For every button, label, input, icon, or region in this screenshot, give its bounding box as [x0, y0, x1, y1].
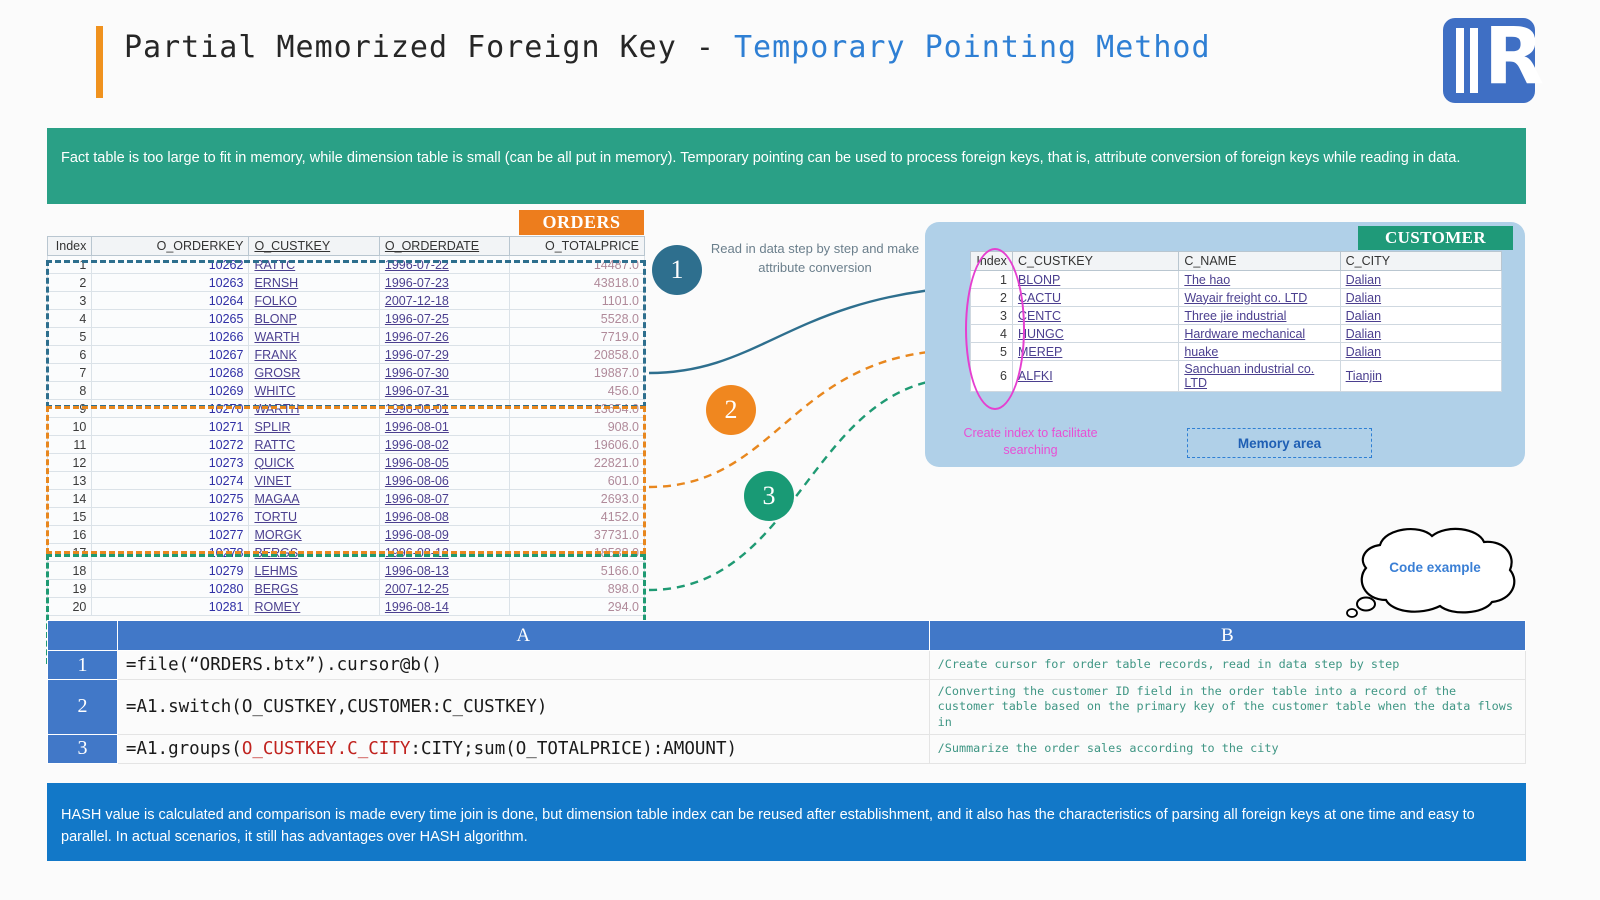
table-row: 4HUNGCHardware mechanicalDalian [971, 325, 1502, 343]
orders-cell: VINET [249, 472, 379, 490]
customer-cell: Dalian [1340, 307, 1501, 325]
code-example-bubble: Code example [1330, 528, 1530, 616]
orders-cell: 19606.0 [509, 436, 644, 454]
customer-cell: Dalian [1340, 289, 1501, 307]
orders-cell: 10265 [92, 310, 249, 328]
customer-cell: Dalian [1340, 325, 1501, 343]
bottom-summary-banner: HASH value is calculated and comparison … [47, 783, 1526, 861]
table-row: 210263ERNSH1996-07-2343818.0 [48, 274, 645, 292]
orders-cell: RATTC [249, 436, 379, 454]
orders-cell: 1996-08-08 [379, 508, 509, 526]
orders-cell: FOLKO [249, 292, 379, 310]
title-accent-bar [96, 26, 103, 98]
orders-cell: RATTC [249, 256, 379, 274]
orders-cell: 1101.0 [509, 292, 644, 310]
code-row: 3=A1.groups(O_CUSTKEY.C_CITY:CITY;sum(O_… [48, 734, 1526, 763]
table-row: 510266WARTH1996-07-267719.0 [48, 328, 645, 346]
orders-cell: 5166.0 [509, 562, 644, 580]
orders-cell: 16 [48, 526, 92, 544]
orders-cell: 2693.0 [509, 490, 644, 508]
table-row: 1110272RATTC1996-08-0219606.0 [48, 436, 645, 454]
orders-table-panel: ORDERS IndexO_ORDERKEYO_CUSTKEYO_ORDERDA… [47, 210, 647, 610]
table-row: 1510276TORTU1996-08-084152.0 [48, 508, 645, 526]
orders-cell: 22821.0 [509, 454, 644, 472]
orders-cell: 10279 [92, 562, 249, 580]
orders-header-row: IndexO_ORDERKEYO_CUSTKEYO_ORDERDATEO_TOT… [48, 237, 645, 256]
code-cell-a[interactable]: =A1.switch(O_CUSTKEY,CUSTOMER:C_CUSTKEY) [117, 680, 929, 735]
orders-cell: 10276 [92, 508, 249, 526]
orders-cell: GROSR [249, 364, 379, 382]
table-row: 110262RATTC1996-07-2214487.0 [48, 256, 645, 274]
orders-cell: 1996-08-13 [379, 562, 509, 580]
table-row: 610267FRANK1996-07-2920858.0 [48, 346, 645, 364]
orders-cell: 456.0 [509, 382, 644, 400]
orders-table-tag: ORDERS [519, 210, 644, 235]
orders-cell: LEHMS [249, 562, 379, 580]
code-highlight: O_CUSTKEY.C_CITY [242, 739, 411, 759]
orders-cell: 10280 [92, 580, 249, 598]
code-row: 2=A1.switch(O_CUSTKEY,CUSTOMER:C_CUSTKEY… [48, 680, 1526, 735]
arrow-step-3 [649, 378, 960, 590]
table-row: 910270WARTH1996-08-0113654.0 [48, 400, 645, 418]
orders-cell: 10271 [92, 418, 249, 436]
code-row-number: 2 [48, 680, 118, 735]
table-row: 710268GROSR1996-07-3019887.0 [48, 364, 645, 382]
customer-cell: The hao [1179, 271, 1340, 289]
orders-cell: 1996-08-07 [379, 490, 509, 508]
orders-cell: MORGK [249, 526, 379, 544]
orders-cell: 1996-07-30 [379, 364, 509, 382]
code-example-table: A B 1=file(“ORDERS.btx”).cursor@b()/Crea… [47, 620, 1526, 764]
step-circle-1: 1 [652, 245, 702, 295]
orders-table: IndexO_ORDERKEYO_CUSTKEYO_ORDERDATEO_TOT… [47, 236, 645, 616]
customer-col-header: C_CITY [1340, 252, 1501, 271]
orders-cell: 13654.0 [509, 400, 644, 418]
customer-cell: Tianjin [1340, 361, 1501, 392]
orders-cell: 1996-07-22 [379, 256, 509, 274]
orders-cell: 4 [48, 310, 92, 328]
orders-col-header: O_TOTALPRICE [509, 237, 644, 256]
code-corner-cell [48, 621, 118, 651]
orders-cell: 1996-07-23 [379, 274, 509, 292]
orders-cell: 3 [48, 292, 92, 310]
orders-cell: 10278 [92, 544, 249, 562]
orders-cell: BLONP [249, 310, 379, 328]
table-row: 1810279LEHMS1996-08-135166.0 [48, 562, 645, 580]
customer-table-tag: CUSTOMER [1358, 226, 1513, 250]
orders-cell: 6 [48, 346, 92, 364]
orders-cell: 2007-12-18 [379, 292, 509, 310]
orders-cell: 10269 [92, 382, 249, 400]
orders-cell: 19 [48, 580, 92, 598]
customer-cell: Wayair freight co. LTD [1179, 289, 1340, 307]
customer-cell: Three jie industrial [1179, 307, 1340, 325]
orders-cell: 11 [48, 436, 92, 454]
orders-cell: ERNSH [249, 274, 379, 292]
orders-cell: ROMEY [249, 598, 379, 616]
orders-cell: 1996-08-01 [379, 400, 509, 418]
table-row: 1310274VINET1996-08-06601.0 [48, 472, 645, 490]
orders-cell: WARTH [249, 400, 379, 418]
table-row: 2010281ROMEY1996-08-14294.0 [48, 598, 645, 616]
table-row: 1710278BERGS1996-08-1218538.0 [48, 544, 645, 562]
table-row: 810269WHITC1996-07-31456.0 [48, 382, 645, 400]
orders-cell: 10275 [92, 490, 249, 508]
orders-cell: 7719.0 [509, 328, 644, 346]
orders-cell: 9 [48, 400, 92, 418]
table-row: 2CACTUWayair freight co. LTDDalian [971, 289, 1502, 307]
orders-cell: 37731.0 [509, 526, 644, 544]
orders-cell: 1996-07-31 [379, 382, 509, 400]
code-cell-a[interactable]: =A1.groups(O_CUSTKEY.C_CITY:CITY;sum(O_T… [117, 734, 929, 763]
orders-cell: 18 [48, 562, 92, 580]
orders-cell: BERGS [249, 580, 379, 598]
orders-cell: 601.0 [509, 472, 644, 490]
orders-cell: 10264 [92, 292, 249, 310]
orders-cell: 18538.0 [509, 544, 644, 562]
orders-cell: 10 [48, 418, 92, 436]
orders-cell: 14 [48, 490, 92, 508]
code-example-label: Code example [1380, 560, 1490, 575]
page-title-main: Partial Memorized Foreign Key - [124, 30, 734, 65]
orders-cell: 1996-08-09 [379, 526, 509, 544]
code-column-b-header: B [929, 621, 1525, 651]
orders-col-header: O_ORDERKEY [92, 237, 249, 256]
customer-cell: Dalian [1340, 343, 1501, 361]
orders-cell: 5 [48, 328, 92, 346]
orders-cell: TORTU [249, 508, 379, 526]
orders-cell: 10273 [92, 454, 249, 472]
orders-cell: 898.0 [509, 580, 644, 598]
step-circle-3: 3 [744, 471, 794, 521]
orders-cell: 1996-08-02 [379, 436, 509, 454]
orders-cell: 10266 [92, 328, 249, 346]
orders-cell: SPLIR [249, 418, 379, 436]
customer-cell: Dalian [1340, 271, 1501, 289]
orders-cell: 1996-08-01 [379, 418, 509, 436]
orders-col-header: O_ORDERDATE [379, 237, 509, 256]
orders-cell: 10268 [92, 364, 249, 382]
customer-cell: huake [1179, 343, 1340, 361]
orders-cell: 2 [48, 274, 92, 292]
orders-cell: 14487.0 [509, 256, 644, 274]
customer-cell: BLONP [1012, 271, 1178, 289]
orders-cell: 10274 [92, 472, 249, 490]
page-title-accent: Temporary Pointing Method [734, 30, 1211, 65]
orders-cell: WARTH [249, 328, 379, 346]
orders-cell: 1996-08-14 [379, 598, 509, 616]
page-header: Partial Memorized Foreign Key - Temporar… [0, 0, 1600, 118]
table-row: 310264FOLKO2007-12-181101.0 [48, 292, 645, 310]
customer-cell: CENTC [1012, 307, 1178, 325]
orders-cell: 13 [48, 472, 92, 490]
orders-cell: 1996-08-06 [379, 472, 509, 490]
logo-bar-right [1470, 28, 1478, 93]
orders-col-header: O_CUSTKEY [249, 237, 379, 256]
top-description-banner: Fact table is too large to fit in memory… [47, 128, 1526, 204]
orders-cell: 10270 [92, 400, 249, 418]
orders-cell: 4152.0 [509, 508, 644, 526]
orders-cell: FRANK [249, 346, 379, 364]
orders-cell: 908.0 [509, 418, 644, 436]
customer-cell: CACTU [1012, 289, 1178, 307]
orders-cell: 20858.0 [509, 346, 644, 364]
customer-header-row: IndexC_CUSTKEYC_NAMEC_CITY [971, 252, 1502, 271]
orders-cell: 17 [48, 544, 92, 562]
orders-cell: 10281 [92, 598, 249, 616]
code-cell-b-comment: /Create cursor for order table records, … [929, 651, 1525, 680]
orders-cell: WHITC [249, 382, 379, 400]
orders-cell: 5528.0 [509, 310, 644, 328]
code-column-a-header: A [117, 621, 929, 651]
customer-col-header: C_NAME [1179, 252, 1340, 271]
code-cell-b-comment: /Converting the customer ID field in the… [929, 680, 1525, 735]
orders-cell: 2007-12-25 [379, 580, 509, 598]
memory-area-box: Memory area [1187, 428, 1372, 458]
orders-cell: BERGS [249, 544, 379, 562]
code-cell-a[interactable]: =file(“ORDERS.btx”).cursor@b() [117, 651, 929, 680]
arrow-step-2 [649, 350, 960, 487]
table-row: 1BLONPThe haoDalian [971, 271, 1502, 289]
table-row: 1210273QUICK1996-08-0522821.0 [48, 454, 645, 472]
code-row-number: 3 [48, 734, 118, 763]
orders-cell: 10277 [92, 526, 249, 544]
table-row: 1910280BERGS2007-12-25898.0 [48, 580, 645, 598]
code-header-row: A B [48, 621, 1526, 651]
orders-cell: MAGAA [249, 490, 379, 508]
orders-cell: 20 [48, 598, 92, 616]
orders-cell: 1 [48, 256, 92, 274]
table-row: 1410275MAGAA1996-08-072693.0 [48, 490, 645, 508]
arrow-step-1 [649, 287, 960, 373]
customer-cell: Sanchuan industrial co. LTD [1179, 361, 1340, 392]
create-index-note: Create index to facilitate searching [938, 425, 1123, 459]
customer-col-header: C_CUSTKEY [1012, 252, 1178, 271]
table-row: 3CENTCThree jie industrialDalian [971, 307, 1502, 325]
code-row-number: 1 [48, 651, 118, 680]
orders-cell: 43818.0 [509, 274, 644, 292]
customer-table: IndexC_CUSTKEYC_NAMEC_CITY 1BLONPThe hao… [970, 251, 1502, 392]
table-row: 5MEREPhuakeDalian [971, 343, 1502, 361]
step-1-note: Read in data step by step and make attri… [700, 240, 930, 278]
orders-cell: 10262 [92, 256, 249, 274]
index-highlight-ellipse [965, 248, 1025, 410]
customer-cell: Hardware mechanical [1179, 325, 1340, 343]
orders-cell: 12 [48, 454, 92, 472]
orders-cell: 1996-07-26 [379, 328, 509, 346]
orders-cell: 294.0 [509, 598, 644, 616]
orders-cell: 15 [48, 508, 92, 526]
orders-cell: 19887.0 [509, 364, 644, 382]
orders-cell: 10263 [92, 274, 249, 292]
orders-cell: 8 [48, 382, 92, 400]
brand-logo-icon: R [1443, 18, 1535, 103]
customer-cell: HUNGC [1012, 325, 1178, 343]
logo-letter: R [1484, 28, 1526, 93]
table-row: 1010271SPLIR1996-08-01908.0 [48, 418, 645, 436]
orders-cell: 1996-07-29 [379, 346, 509, 364]
orders-cell: QUICK [249, 454, 379, 472]
page-title: Partial Memorized Foreign Key - Temporar… [124, 30, 1211, 65]
customer-cell: MEREP [1012, 343, 1178, 361]
table-row: 6ALFKISanchuan industrial co. LTDTianjin [971, 361, 1502, 392]
orders-cell: 1996-08-12 [379, 544, 509, 562]
orders-cell: 10267 [92, 346, 249, 364]
table-row: 410265BLONP1996-07-255528.0 [48, 310, 645, 328]
orders-cell: 10272 [92, 436, 249, 454]
code-row: 1=file(“ORDERS.btx”).cursor@b()/Create c… [48, 651, 1526, 680]
orders-cell: 1996-07-25 [379, 310, 509, 328]
table-row: 1610277MORGK1996-08-0937731.0 [48, 526, 645, 544]
logo-bar-left [1456, 28, 1464, 93]
orders-cell: 1996-08-05 [379, 454, 509, 472]
step-circle-2: 2 [706, 385, 756, 435]
orders-col-header: Index [48, 237, 92, 256]
code-cell-b-comment: /Summarize the order sales according to … [929, 734, 1525, 763]
customer-cell: ALFKI [1012, 361, 1178, 392]
orders-cell: 7 [48, 364, 92, 382]
